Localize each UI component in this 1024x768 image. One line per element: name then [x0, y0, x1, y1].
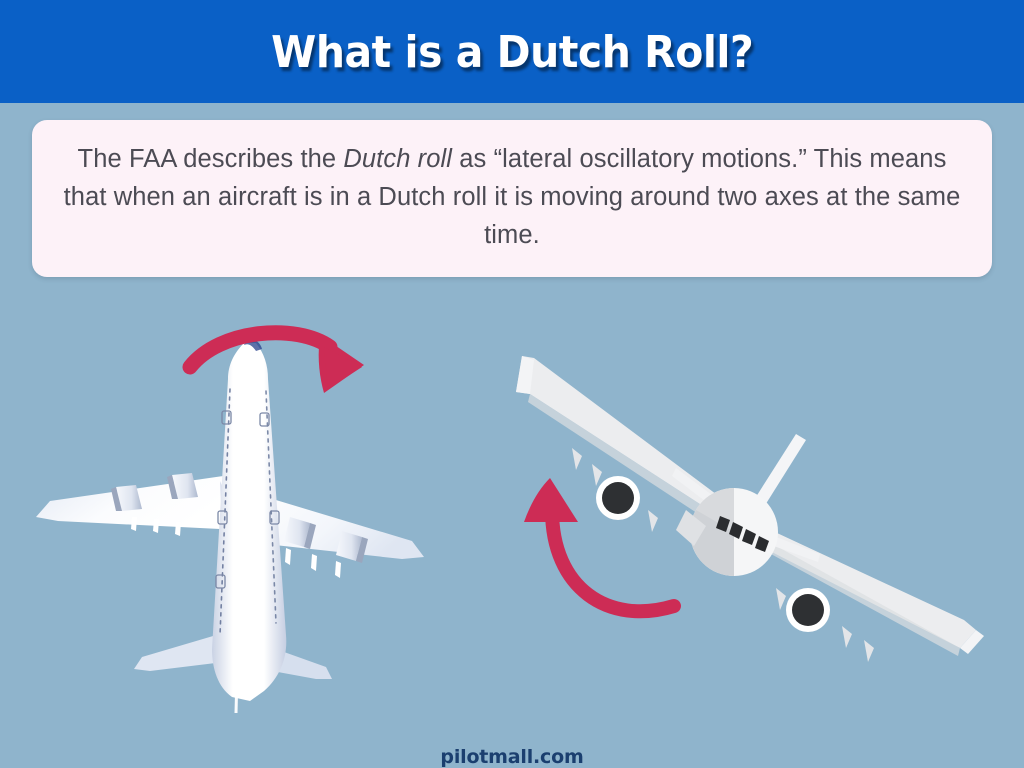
airliner-top-view-yaw-figure — [24, 305, 444, 725]
infographic-page: What is a Dutch Roll? The FAA describes … — [0, 0, 1024, 768]
footer-brand: pilotmall.com — [0, 746, 1024, 768]
airliner-front-view-graphic — [516, 356, 984, 662]
airliner-front-view-roll-figure — [490, 330, 1010, 680]
definition-text: The FAA describes the Dutch roll as “lat… — [54, 140, 970, 254]
engine-inner-left — [167, 473, 198, 499]
right-wing-shade — [760, 538, 960, 656]
engine-left — [596, 476, 640, 520]
header-band: What is a Dutch Roll? — [0, 0, 1024, 103]
definition-emphasis-term: Dutch roll — [343, 145, 452, 173]
brand-label: pilotmall.com — [440, 746, 583, 768]
illustration-area — [0, 285, 1024, 725]
definition-card: The FAA describes the Dutch roll as “lat… — [32, 120, 992, 277]
yaw-arrow-icon — [190, 333, 364, 393]
engine-right — [786, 588, 830, 632]
definition-text-part-1: The FAA describes the — [78, 145, 344, 173]
airliner-top-view-graphic — [36, 339, 424, 713]
tail-trail — [236, 635, 238, 713]
page-title: What is a Dutch Roll? — [271, 31, 753, 75]
